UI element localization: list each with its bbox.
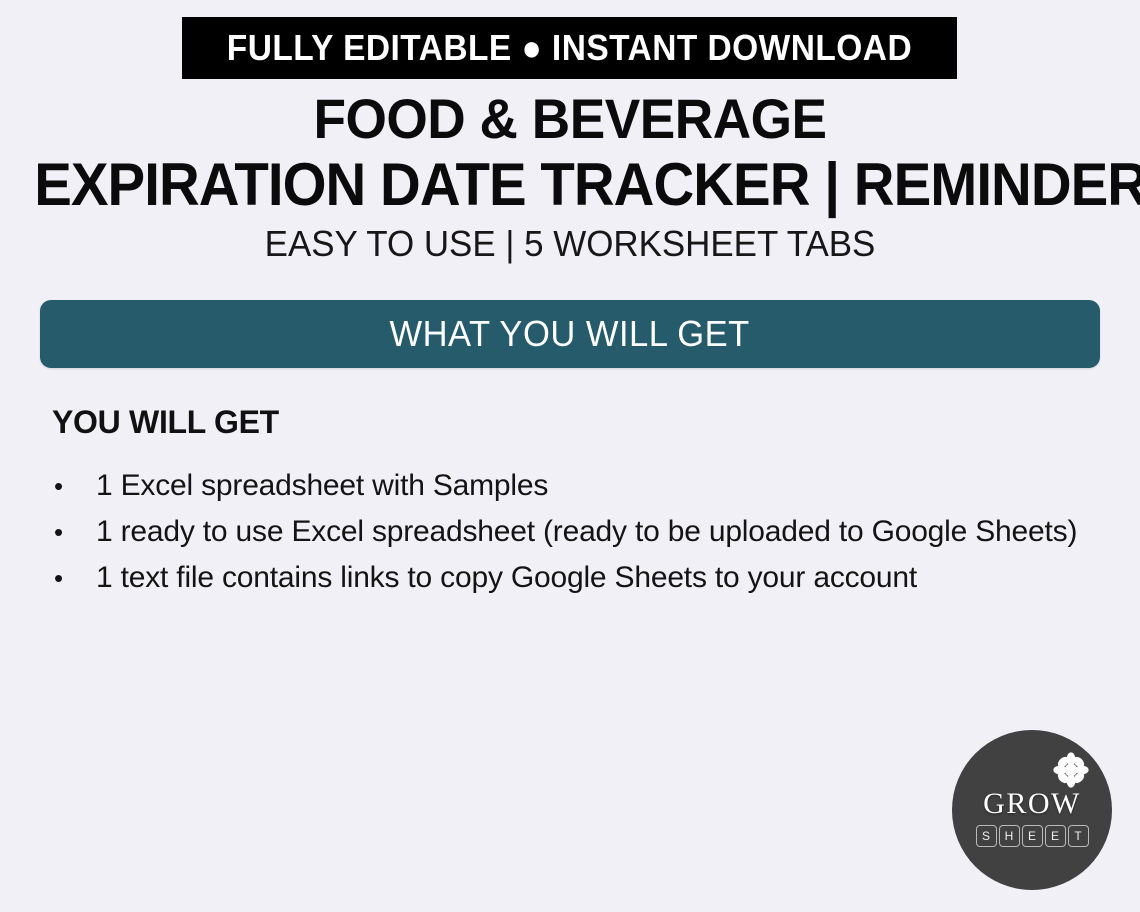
content-heading: YOU WILL GET	[52, 404, 1092, 441]
list-item: 1 ready to use Excel spreadsheet (ready …	[52, 509, 1092, 555]
brand-letter-box: E	[1045, 825, 1066, 847]
content-block: YOU WILL GET 1 Excel spreadsheet with Sa…	[52, 404, 1092, 601]
brand-letter-box: S	[976, 825, 997, 847]
brand-name-primary: GROW	[952, 787, 1112, 821]
deliverables-list: 1 Excel spreadsheet with Samples 1 ready…	[52, 463, 1092, 601]
page-subtitle: EASY TO USE | 5 WORKSHEET TABS	[17, 222, 1123, 266]
page-title-line-1: FOOD & BEVERAGE	[29, 88, 1112, 150]
brand-name-secondary: S H E E T	[952, 825, 1112, 847]
section-header-bar: WHAT YOU WILL GET	[40, 300, 1100, 368]
promo-ribbon-text: FULLY EDITABLE ● INSTANT DOWNLOAD	[227, 27, 912, 69]
promo-ribbon: FULLY EDITABLE ● INSTANT DOWNLOAD	[182, 17, 957, 79]
brand-letter-box: E	[1022, 825, 1043, 847]
page-title-line-2: EXPIRATION DATE TRACKER | REMINDER	[34, 150, 1106, 220]
list-item: 1 Excel spreadsheet with Samples	[52, 463, 1092, 509]
brand-letter-box: H	[999, 825, 1020, 847]
flower-icon	[1053, 752, 1089, 788]
headline-block: FOOD & BEVERAGE EXPIRATION DATE TRACKER …	[0, 88, 1140, 266]
list-item: 1 text file contains links to copy Googl…	[52, 555, 1092, 601]
section-header-title: WHAT YOU WILL GET	[390, 313, 750, 355]
brand-letter-box: T	[1068, 825, 1089, 847]
brand-logo: GROW S H E E T	[952, 730, 1112, 890]
